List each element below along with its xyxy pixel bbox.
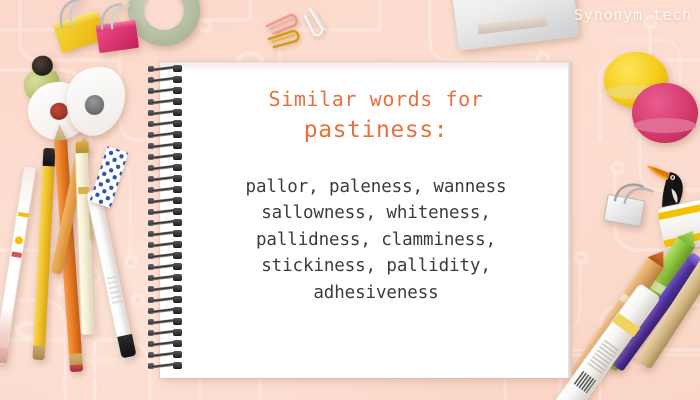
synonym-line: adhesiveness	[194, 280, 558, 307]
spiral-binding	[149, 66, 183, 376]
washi-tape-hole	[144, 0, 184, 30]
synonym-line: pallidness, clamminess,	[194, 227, 558, 254]
binder-clip-silver	[603, 182, 658, 232]
synonym-line: stickiness, pallidity,	[194, 253, 558, 280]
notebook-page: Similar words for pastiness: pallor, pal…	[160, 62, 568, 378]
binder-clip-pink	[94, 9, 148, 59]
page-edge	[568, 62, 572, 378]
macaron-pink	[632, 83, 698, 143]
desk-scene: Similar words for pastiness: pallor, pal…	[0, 0, 700, 400]
synonym-list: pallor, paleness, wanness sallowness, wh…	[194, 174, 558, 307]
page-content: Similar words for pastiness: pallor, pal…	[194, 86, 558, 306]
brand-watermark: Synonym.tech	[574, 6, 692, 24]
synonym-line: sallowness, whiteness,	[194, 200, 558, 227]
page-heading-word: pastiness:	[194, 113, 558, 148]
page-heading-prefix: Similar words for	[194, 86, 558, 113]
synonym-line: pallor, paleness, wanness	[194, 174, 558, 201]
paperclip-orange	[262, 25, 306, 49]
